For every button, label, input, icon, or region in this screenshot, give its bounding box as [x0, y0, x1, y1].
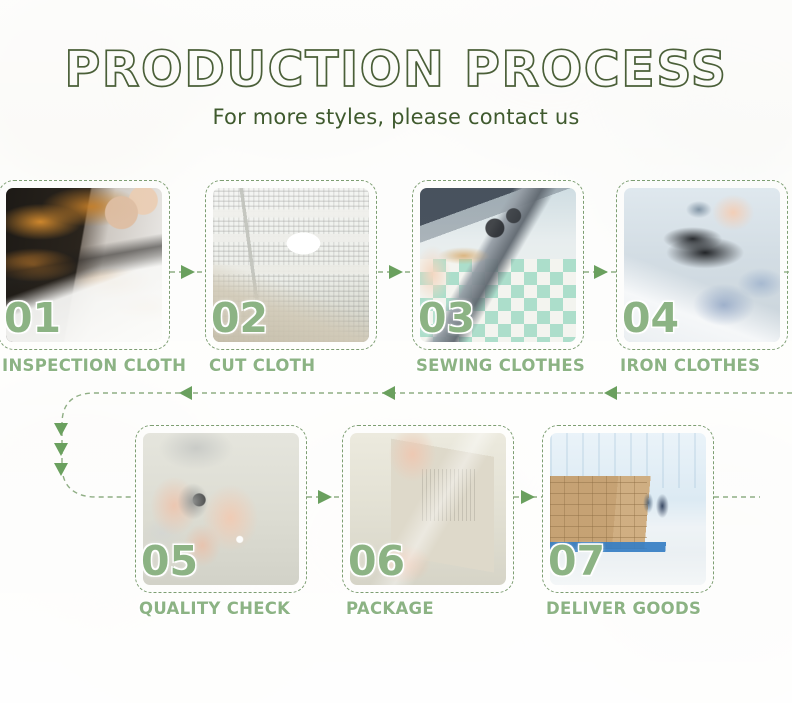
step-card-6[interactable]: 06 PACKAGE: [342, 425, 514, 593]
step-card-4[interactable]: 04 IRON CLOTHES: [616, 180, 788, 350]
step-label: QUALITY CHECK: [139, 601, 290, 618]
step-number: 07: [548, 541, 605, 582]
step-card-2[interactable]: 02 CUT CLOTH: [205, 180, 377, 350]
header: PRODUCTION PROCESS For more styles, plea…: [0, 0, 792, 129]
step-label: DELIVER GOODS: [546, 601, 701, 618]
step-number: 03: [418, 298, 475, 339]
connector-step5-step6: [307, 490, 341, 504]
step-label: CUT CLOTH: [209, 358, 315, 375]
connector-step1-step2: [170, 265, 204, 279]
connector-step2-step3: [378, 265, 412, 279]
connector-step6-step7: [514, 490, 542, 504]
step-number: 02: [211, 298, 268, 339]
step-label: INSPECTION CLOTH: [2, 358, 186, 375]
connector-step3-step4: [584, 265, 616, 279]
page-subtitle: For more styles, please contact us: [0, 105, 792, 129]
step-number: 05: [141, 541, 198, 582]
step-label: PACKAGE: [346, 601, 434, 618]
step-card-3[interactable]: 03 SEWING CLOTHES: [412, 180, 584, 350]
step-number: 06: [348, 541, 405, 582]
page-title: PRODUCTION PROCESS: [0, 44, 792, 95]
step-number: 01: [4, 298, 61, 339]
step-card-1[interactable]: 01 INSPECTION CLOTH: [0, 180, 170, 350]
step-number: 04: [622, 298, 679, 339]
production-process-infographic: PRODUCTION PROCESS For more styles, plea…: [0, 0, 792, 703]
step-label: SEWING CLOTHES: [416, 358, 585, 375]
step-label: IRON CLOTHES: [620, 358, 760, 375]
step-card-5[interactable]: 05 QUALITY CHECK: [135, 425, 307, 593]
step-card-7[interactable]: 07 DELIVER GOODS: [542, 425, 714, 593]
